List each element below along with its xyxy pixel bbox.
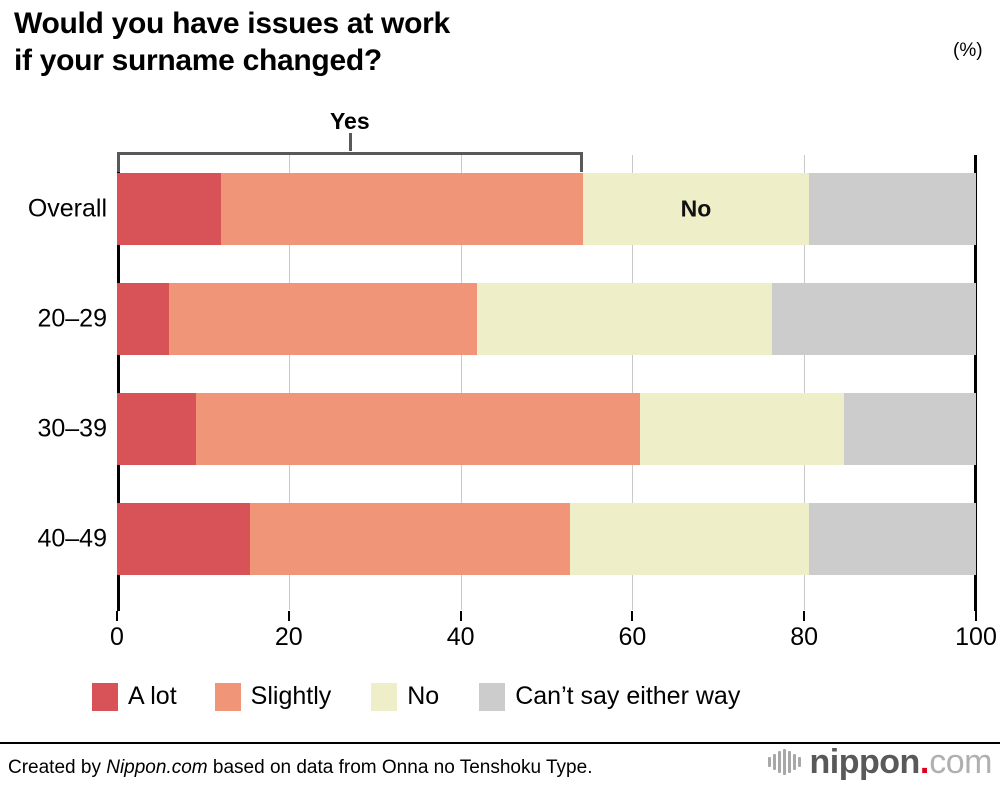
bar-row: [117, 283, 976, 355]
bar-segment: [772, 283, 976, 355]
plot-area: No: [117, 155, 976, 610]
yes-bracket: [117, 152, 583, 172]
x-tick-mark: [631, 611, 633, 621]
bar-segment: [117, 503, 250, 575]
bar-segment: [221, 173, 583, 245]
bracket-cap-left: [117, 152, 120, 172]
bar-segment: [117, 283, 169, 355]
x-tick-label: 0: [110, 623, 124, 652]
category-label: Overall: [28, 195, 107, 224]
legend: A lotSlightlyNoCan’t say either way: [92, 682, 740, 711]
x-tick-label: 100: [955, 623, 997, 652]
page-title: Would you have issues at work if your su…: [14, 6, 714, 79]
x-tick-mark: [288, 611, 290, 621]
legend-swatch: [215, 683, 241, 711]
bar-segment: [477, 283, 772, 355]
bar-segment: [117, 393, 196, 465]
legend-swatch: [371, 683, 397, 711]
bar-segment-label: No: [681, 196, 712, 223]
x-tick-mark: [116, 611, 118, 621]
legend-swatch: [479, 683, 505, 711]
bar-segment: [250, 503, 570, 575]
legend-item[interactable]: Slightly: [215, 682, 332, 711]
bracket-top-line: [117, 152, 583, 155]
waveform-icon: [768, 747, 801, 777]
legend-item[interactable]: A lot: [92, 682, 177, 711]
credit-source-name: Nippon.com: [106, 757, 207, 778]
legend-item[interactable]: Can’t say either way: [479, 682, 740, 711]
bar-segment: [809, 503, 976, 575]
x-axis-unit: (%): [953, 40, 983, 62]
bracket-cap-right: [580, 152, 583, 172]
category-axis: Overall20–2930–3940–49: [0, 155, 107, 610]
bar-row: [117, 503, 976, 575]
credit-prefix: Created by: [8, 757, 106, 778]
category-label: 20–29: [37, 305, 107, 334]
bar-segment: [196, 393, 640, 465]
bar-row: [117, 393, 976, 465]
bar-segment: [570, 503, 810, 575]
x-tick-label: 40: [447, 623, 475, 652]
bar-row: [117, 173, 976, 245]
legend-label: Can’t say either way: [515, 682, 740, 711]
logo-wordmark: nippon: [810, 745, 920, 779]
x-tick-mark: [803, 611, 805, 621]
logo-dot: .: [920, 745, 929, 779]
bar-segment: [169, 283, 477, 355]
legend-label: Slightly: [251, 682, 332, 711]
category-label: 30–39: [37, 415, 107, 444]
x-tick-label: 60: [618, 623, 646, 652]
legend-label: A lot: [128, 682, 177, 711]
x-axis: 020406080100: [0, 611, 1000, 671]
x-tick-mark: [460, 611, 462, 621]
x-tick-label: 80: [790, 623, 818, 652]
bar-segment: [640, 393, 844, 465]
bar-segment: [809, 173, 976, 245]
bracket-tick: [349, 133, 352, 151]
legend-label: No: [407, 682, 439, 711]
legend-swatch: [92, 683, 118, 711]
bar-segment: [117, 173, 221, 245]
x-tick-label: 20: [275, 623, 303, 652]
credit-suffix: based on data from Onna no Tenshoku Type…: [208, 757, 593, 778]
x-tick-mark: [975, 611, 977, 621]
bracket-label-yes: Yes: [330, 108, 370, 135]
footer: Created by Nippon.com based on data from…: [8, 757, 992, 787]
category-label: 40–49: [37, 525, 107, 554]
logo-tld: com: [929, 745, 992, 779]
legend-item[interactable]: No: [371, 682, 439, 711]
nippon-logo[interactable]: nippon . com: [768, 745, 992, 779]
bar-segment: [844, 393, 976, 465]
credit-line: Created by Nippon.com based on data from…: [8, 757, 592, 779]
